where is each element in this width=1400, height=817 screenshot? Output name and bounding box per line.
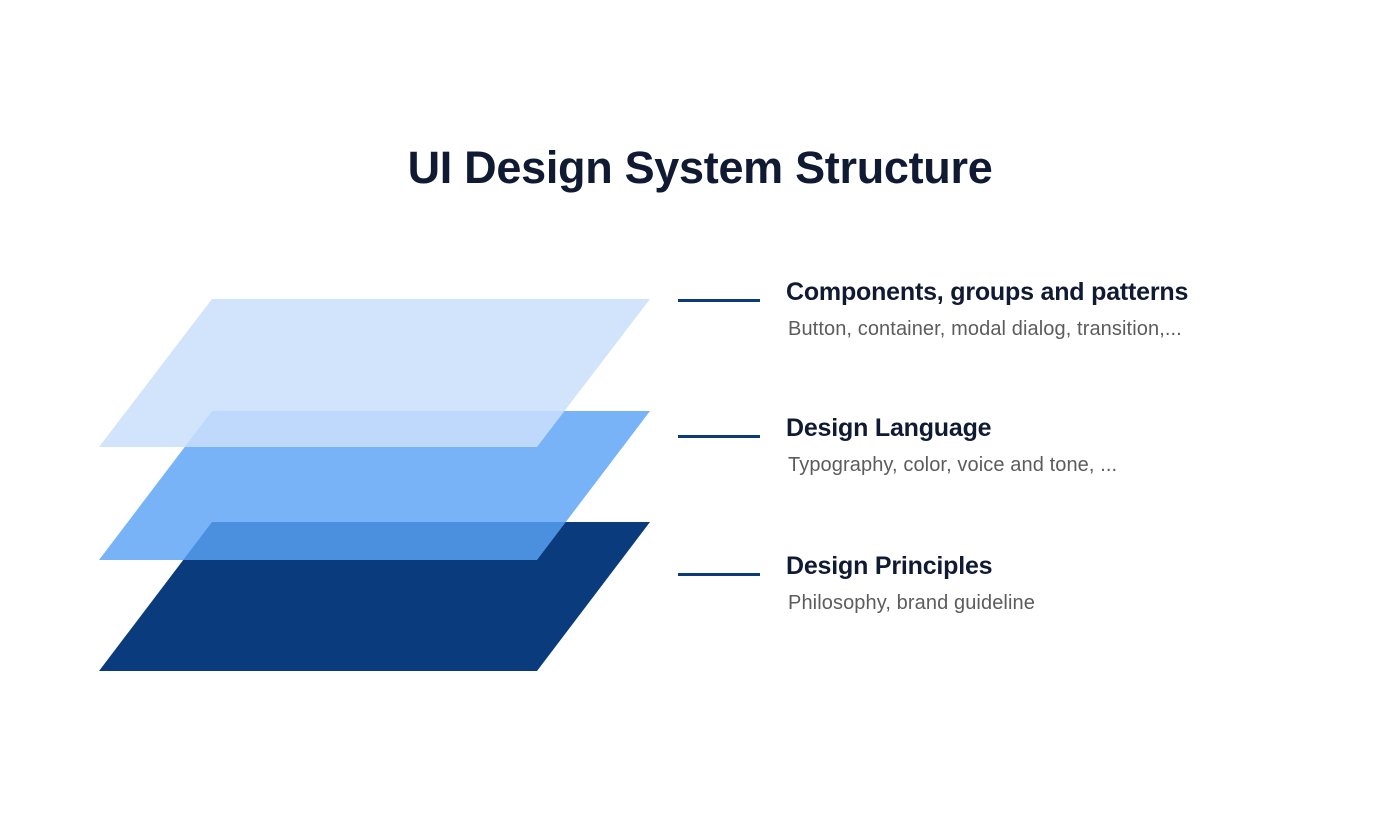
legend-item-design-language[interactable]: Design Language Typography, color, voice…	[678, 413, 1378, 503]
diagram-canvas: UI Design System Structure Components, g…	[0, 0, 1400, 817]
connector-line-icon	[678, 573, 760, 576]
legend-heading: Design Language	[786, 413, 1366, 444]
legend-list: Components, groups and patterns Button, …	[678, 0, 1378, 817]
legend-item-design-principles[interactable]: Design Principles Philosophy, brand guid…	[678, 551, 1378, 641]
legend-text-block: Design Principles Philosophy, brand guid…	[786, 551, 1366, 616]
legend-subtitle: Typography, color, voice and tone, ...	[788, 452, 1366, 478]
legend-heading: Components, groups and patterns	[786, 277, 1366, 308]
connector-line-icon	[678, 435, 760, 438]
legend-item-components[interactable]: Components, groups and patterns Button, …	[678, 277, 1378, 367]
connector-line-icon	[678, 299, 760, 302]
layer-stack-diagram	[0, 0, 760, 817]
legend-subtitle: Button, container, modal dialog, transit…	[788, 316, 1366, 342]
legend-heading: Design Principles	[786, 551, 1366, 582]
legend-text-block: Design Language Typography, color, voice…	[786, 413, 1366, 478]
legend-subtitle: Philosophy, brand guideline	[788, 590, 1366, 616]
legend-text-block: Components, groups and patterns Button, …	[786, 277, 1366, 342]
